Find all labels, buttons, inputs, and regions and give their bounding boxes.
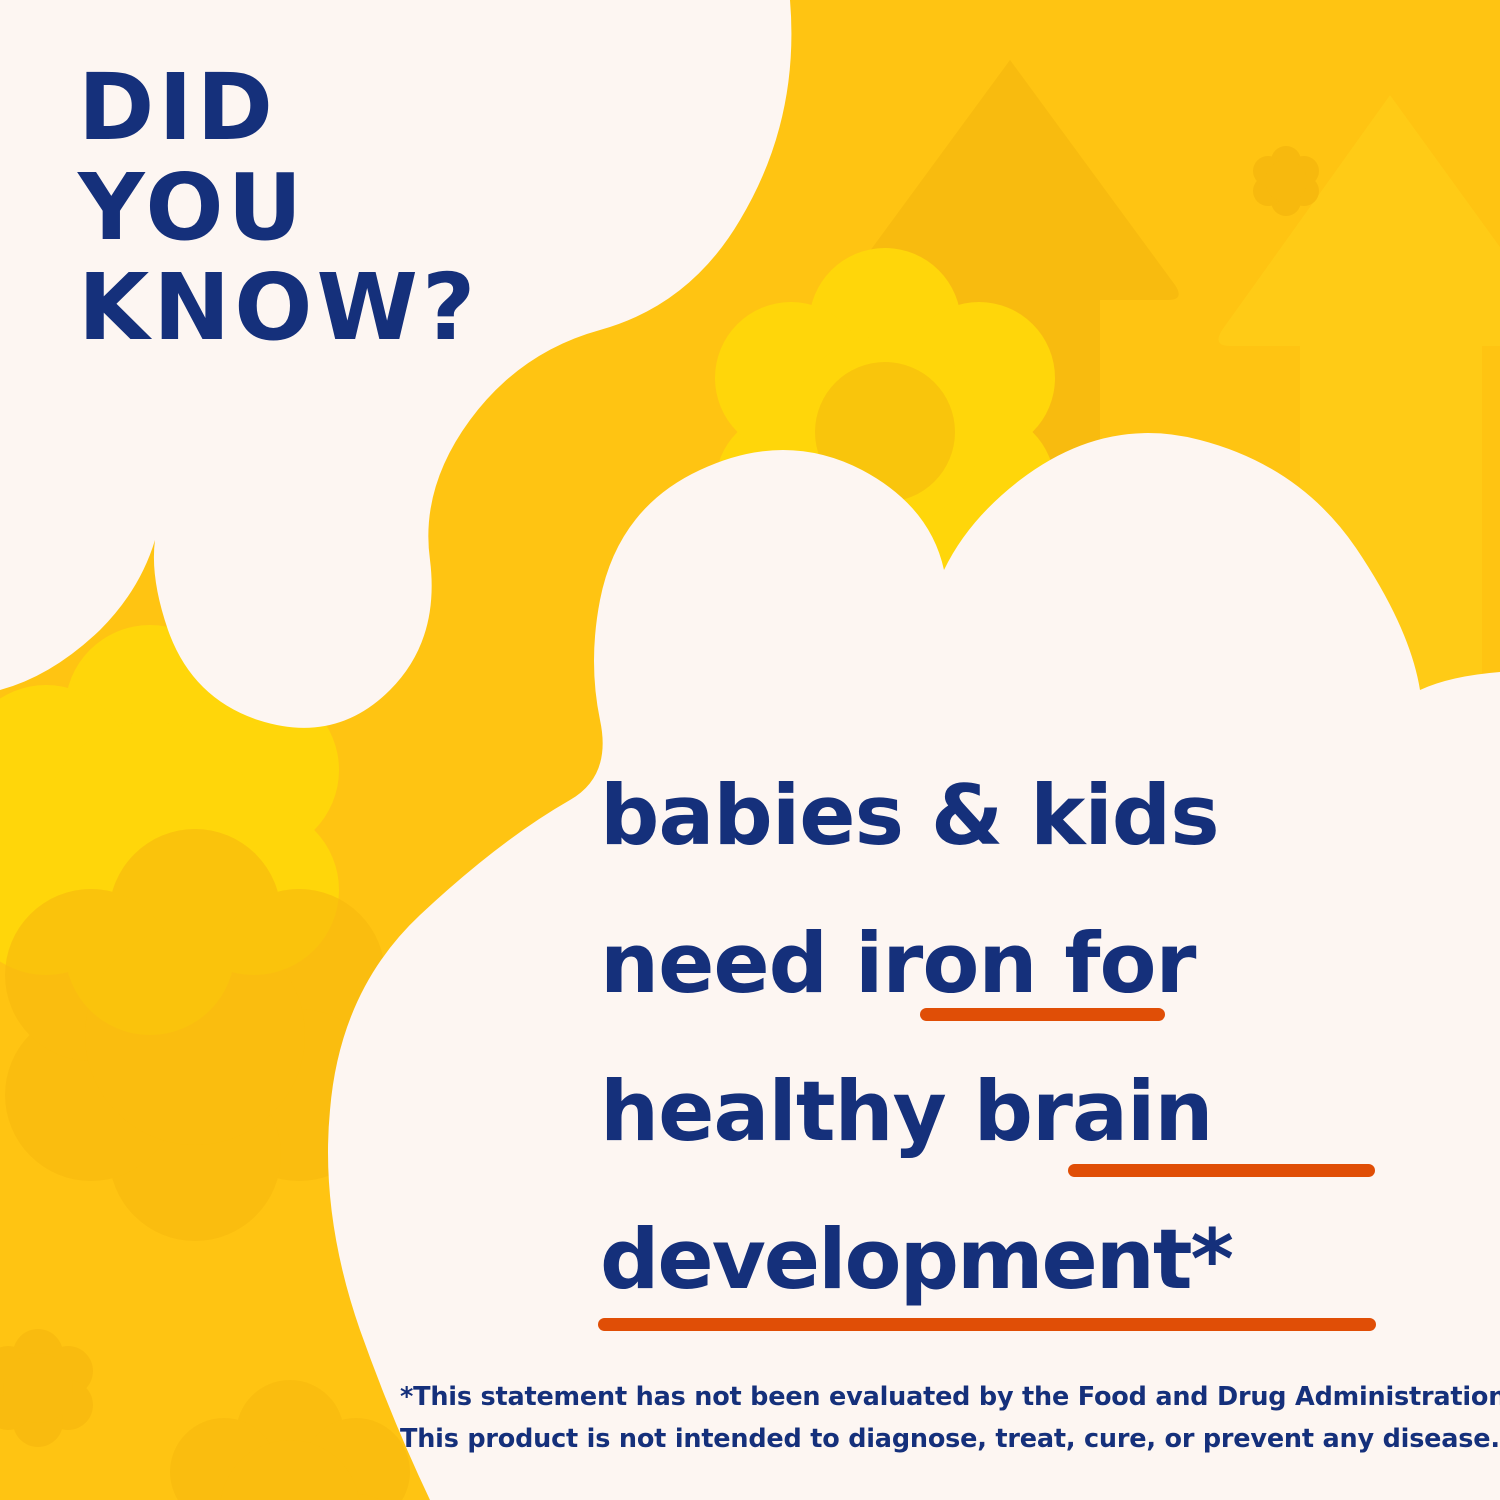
statement-emphasis-iron: iron bbox=[855, 915, 1037, 1012]
headline-line-3: KNOW? bbox=[78, 258, 698, 358]
disclaimer-line-1: *This statement has not been evaluated b… bbox=[400, 1376, 1470, 1418]
disclaimer-block: *This statement has not been evaluated b… bbox=[400, 1376, 1470, 1460]
underline-development bbox=[598, 1318, 1376, 1331]
underline-iron bbox=[920, 1008, 1165, 1021]
infographic-canvas: DID YOU KNOW? babies & kids need iron fo… bbox=[0, 0, 1500, 1500]
headline-line-1: DID bbox=[78, 58, 698, 158]
statement-line-4: development* bbox=[600, 1186, 1430, 1334]
statement-text: need bbox=[600, 915, 855, 1012]
statement-line-1: babies & kids bbox=[600, 742, 1430, 890]
statement-text: babies & kids bbox=[600, 767, 1219, 864]
disclaimer-line-2: This product is not intended to diagnose… bbox=[400, 1418, 1470, 1460]
statement-emphasis-development: development* bbox=[600, 1211, 1232, 1308]
headline-block: DID YOU KNOW? bbox=[78, 58, 698, 358]
statement-text: healthy bbox=[600, 1063, 974, 1160]
statement-text: for bbox=[1036, 915, 1195, 1012]
statement-block: babies & kids need iron for healthy brai… bbox=[600, 742, 1430, 1334]
underline-brain bbox=[1068, 1164, 1375, 1177]
headline-line-2: YOU bbox=[78, 158, 698, 258]
statement-emphasis-brain: brain bbox=[974, 1063, 1213, 1160]
